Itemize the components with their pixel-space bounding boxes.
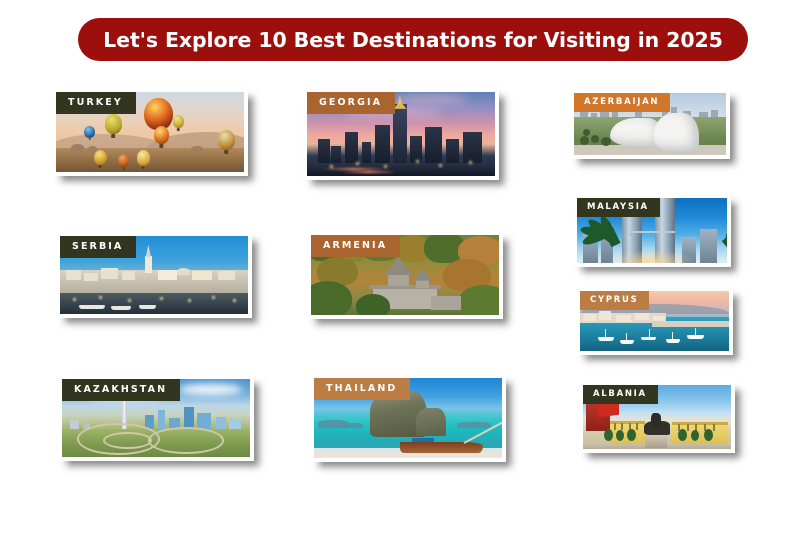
- destination-board: TURKEY: [0, 0, 800, 533]
- photo-cyprus: CYPRUS: [580, 291, 729, 351]
- photo-turkey: TURKEY: [56, 92, 244, 172]
- destination-card-albania[interactable]: ALBANIA: [579, 381, 735, 453]
- destination-card-cyprus[interactable]: CYPRUS: [576, 287, 733, 355]
- destination-card-serbia[interactable]: SERBIA: [56, 232, 252, 318]
- destination-label-cyprus: CYPRUS: [580, 291, 649, 310]
- photo-albania: ALBANIA: [583, 385, 731, 449]
- photo-azerbaijan: AZERBAIJAN: [574, 93, 726, 155]
- destination-label-malaysia: MALAYSIA: [577, 198, 660, 217]
- photo-armenia: ARMENIA: [311, 235, 499, 315]
- destination-card-turkey[interactable]: TURKEY: [52, 88, 248, 176]
- destination-label-georgia: GEORGIA: [307, 92, 395, 114]
- destination-card-azerbaijan[interactable]: AZERBAIJAN: [570, 89, 730, 159]
- destination-card-malaysia[interactable]: MALAYSIA: [573, 194, 731, 267]
- destination-label-kazakhstan: KAZAKHSTAN: [62, 379, 180, 401]
- destination-card-armenia[interactable]: ARMENIA: [307, 231, 503, 319]
- destination-card-georgia[interactable]: GEORGIA: [303, 88, 499, 180]
- photo-georgia: GEORGIA: [307, 92, 495, 176]
- photo-thailand: THAILAND: [314, 378, 502, 458]
- photo-kazakhstan: KAZAKHSTAN: [62, 379, 250, 457]
- photo-serbia: SERBIA: [60, 236, 248, 314]
- destination-label-armenia: ARMENIA: [311, 235, 400, 257]
- destination-card-kazakhstan[interactable]: KAZAKHSTAN: [58, 375, 254, 461]
- destination-card-thailand[interactable]: THAILAND: [310, 374, 506, 462]
- photo-malaysia: MALAYSIA: [577, 198, 727, 263]
- destination-label-azerbaijan: AZERBAIJAN: [574, 93, 670, 112]
- destination-label-albania: ALBANIA: [583, 385, 658, 404]
- destination-label-serbia: SERBIA: [60, 236, 136, 258]
- destination-label-turkey: TURKEY: [56, 92, 136, 114]
- destination-label-thailand: THAILAND: [314, 378, 410, 400]
